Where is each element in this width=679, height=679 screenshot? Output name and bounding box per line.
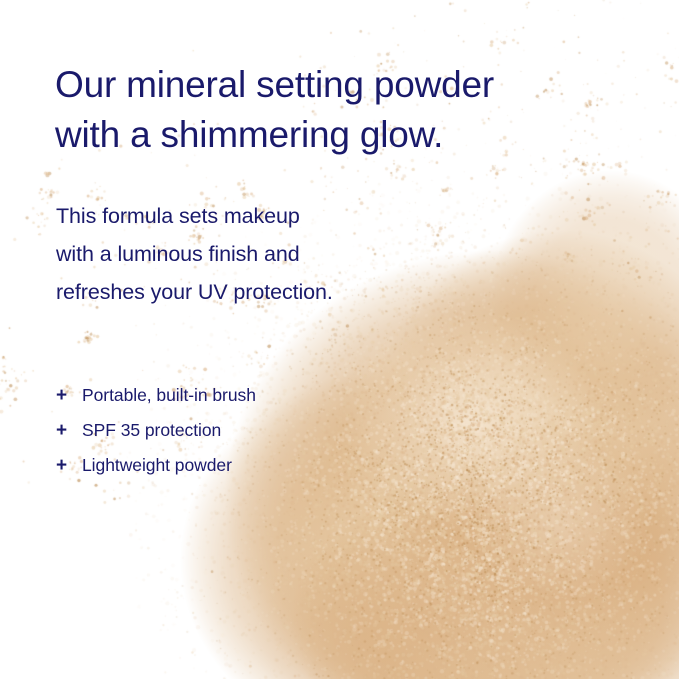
copy-block: Our mineral setting powder with a shimme… [0, 0, 679, 679]
plus-icon: + [56, 456, 82, 475]
product-feature-card: Our mineral setting powder with a shimme… [0, 0, 679, 679]
list-item: + Portable, built-in brush [56, 386, 256, 421]
plus-icon: + [56, 386, 82, 405]
product-description: This formula sets makeup with a luminous… [56, 197, 476, 311]
page-title: Our mineral setting powder with a shimme… [55, 60, 635, 160]
feature-label: SPF 35 protection [82, 422, 221, 440]
feature-label: Portable, built-in brush [82, 387, 256, 405]
feature-list: + Portable, built-in brush + SPF 35 prot… [56, 386, 256, 491]
list-item: + SPF 35 protection [56, 421, 256, 456]
feature-label: Lightweight powder [82, 457, 232, 475]
list-item: + Lightweight powder [56, 456, 256, 491]
plus-icon: + [56, 421, 82, 440]
